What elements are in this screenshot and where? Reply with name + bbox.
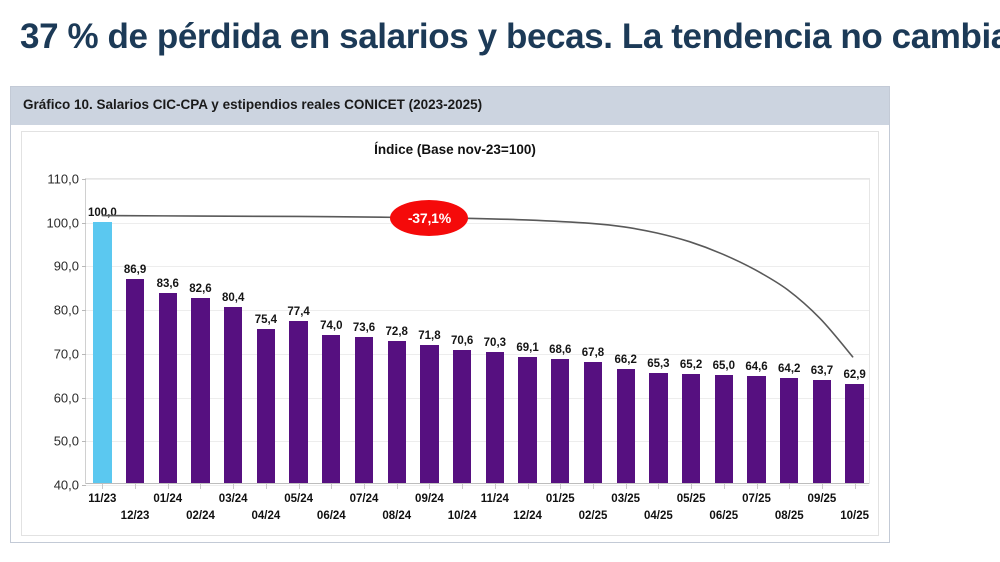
- chart-panel: Gráfico 10. Salarios CIC-CPA y estipendi…: [10, 86, 890, 543]
- plot-wrapper: 110,0100,090,080,070,060,050,040,0 100,0…: [22, 172, 880, 532]
- x-axis-label: 10/25: [840, 510, 869, 522]
- x-axis-label: 07/25: [742, 493, 771, 505]
- bar-value-label: 82,6: [189, 283, 211, 295]
- x-axis-tick-mark: [429, 484, 430, 489]
- bar-column[interactable]: 83,6: [159, 179, 177, 484]
- x-axis-label: 05/24: [284, 493, 313, 505]
- bar[interactable]: [289, 321, 307, 484]
- x-axis-tick-mark: [233, 484, 234, 489]
- bar-value-label: 72,8: [386, 326, 408, 338]
- y-axis-tick-label: 90,0: [54, 259, 79, 274]
- chart-panel-header: Gráfico 10. Salarios CIC-CPA y estipendi…: [11, 87, 889, 125]
- x-axis-tick-mark: [593, 484, 594, 489]
- plot-area: 110,0100,090,080,070,060,050,040,0 100,0…: [85, 178, 870, 484]
- bar-value-label: 70,6: [451, 335, 473, 347]
- x-axis-label: 03/24: [219, 493, 248, 505]
- bar[interactable]: [813, 380, 831, 484]
- bar[interactable]: [551, 359, 569, 484]
- x-axis-tick-mark: [757, 484, 758, 489]
- x-axis-label: 11/24: [481, 493, 509, 505]
- bar-value-label: 66,2: [614, 354, 636, 366]
- bar-column[interactable]: 63,7: [813, 179, 831, 484]
- callout-label: -37,1%: [408, 210, 451, 226]
- x-axis-label: 02/24: [186, 510, 215, 522]
- bar-value-label: 83,6: [157, 278, 179, 290]
- gridline: [86, 485, 869, 486]
- y-axis-tick-mark: [82, 223, 86, 224]
- bar[interactable]: [355, 337, 373, 484]
- bar[interactable]: [780, 378, 798, 484]
- x-axis-label: 06/25: [709, 510, 738, 522]
- bar-value-label: 64,6: [745, 361, 767, 373]
- x-axis-tick-mark: [168, 484, 169, 489]
- bar[interactable]: [747, 376, 765, 484]
- bar-column[interactable]: 73,6: [355, 179, 373, 484]
- y-axis-tick-label: 110,0: [47, 172, 79, 187]
- bar-column[interactable]: 82,6: [191, 179, 209, 484]
- x-axis-label: 10/24: [448, 510, 477, 522]
- bar-column[interactable]: 68,6: [551, 179, 569, 484]
- bar[interactable]: [518, 357, 536, 484]
- bar-column[interactable]: 86,9: [126, 179, 144, 484]
- x-axis-tick-mark: [200, 484, 201, 489]
- bar[interactable]: [649, 373, 667, 484]
- x-axis-label: 07/24: [350, 493, 379, 505]
- bar-column[interactable]: 75,4: [257, 179, 275, 484]
- bar-column[interactable]: 74,0: [322, 179, 340, 484]
- chart-subtitle: Índice (Base nov-23=100): [22, 142, 878, 157]
- x-axis-label: 09/24: [415, 493, 444, 505]
- x-axis-tick-mark: [560, 484, 561, 489]
- y-axis-tick-mark: [82, 179, 86, 180]
- y-axis-tick-label: 50,0: [54, 434, 79, 449]
- x-axis-baseline: [86, 483, 869, 484]
- bar-value-label: 62,9: [843, 369, 865, 381]
- bar-value-label: 77,4: [287, 306, 309, 318]
- bar-column[interactable]: 65,0: [715, 179, 733, 484]
- y-axis-tick-label: 70,0: [54, 346, 79, 361]
- bar[interactable]: [486, 352, 504, 484]
- y-axis-tick-mark: [82, 441, 86, 442]
- bar-value-label: 63,7: [811, 365, 833, 377]
- bar-column[interactable]: 77,4: [289, 179, 307, 484]
- x-axis-label: 09/25: [808, 493, 837, 505]
- bar-column[interactable]: 67,8: [584, 179, 602, 484]
- y-axis-tick-mark: [82, 354, 86, 355]
- x-axis-tick-mark: [789, 484, 790, 489]
- bar-column[interactable]: 65,3: [649, 179, 667, 484]
- chart-panel-body: Índice (Base nov-23=100) 110,0100,090,08…: [21, 131, 879, 536]
- bar[interactable]: [93, 222, 111, 484]
- x-axis-label: 04/25: [644, 510, 673, 522]
- bar-value-label: 73,6: [353, 322, 375, 334]
- bar-value-label: 65,3: [647, 358, 669, 370]
- bar-value-label: 71,8: [418, 330, 440, 342]
- trendline-path: [102, 216, 852, 357]
- bar-column[interactable]: 64,6: [747, 179, 765, 484]
- x-axis-label: 06/24: [317, 510, 346, 522]
- x-axis-label: 01/25: [546, 493, 575, 505]
- y-axis-tick-mark: [82, 485, 86, 486]
- bar[interactable]: [126, 279, 144, 484]
- bar-column[interactable]: 100,0: [93, 179, 111, 484]
- x-axis-label: 08/25: [775, 510, 804, 522]
- x-axis-label: 12/23: [121, 510, 150, 522]
- y-axis-tick-label: 80,0: [54, 303, 79, 318]
- bar-column[interactable]: 65,2: [682, 179, 700, 484]
- bar-column[interactable]: 70,3: [486, 179, 504, 484]
- bar-value-label: 86,9: [124, 264, 146, 276]
- x-axis-tick-mark: [299, 484, 300, 489]
- y-axis-tick-mark: [82, 310, 86, 311]
- bar-column[interactable]: 80,4: [224, 179, 242, 484]
- bar[interactable]: [257, 329, 275, 484]
- bar[interactable]: [388, 341, 406, 484]
- bar[interactable]: [584, 362, 602, 484]
- y-axis-tick-mark: [82, 398, 86, 399]
- x-axis-tick-mark: [102, 484, 103, 489]
- y-axis-tick-mark: [82, 266, 86, 267]
- x-axis-label: 02/25: [579, 510, 608, 522]
- bar[interactable]: [453, 350, 471, 484]
- page-headline: 37 % de pérdida en salarios y becas. La …: [20, 8, 995, 66]
- bar[interactable]: [617, 369, 635, 484]
- x-axis-tick-mark: [691, 484, 692, 489]
- x-axis-tick-mark: [364, 484, 365, 489]
- y-axis-tick-label: 40,0: [54, 478, 79, 493]
- x-axis-tick-mark: [397, 484, 398, 489]
- x-axis-tick-mark: [266, 484, 267, 489]
- x-axis-tick-mark: [724, 484, 725, 489]
- bar[interactable]: [682, 374, 700, 484]
- bar[interactable]: [322, 335, 340, 484]
- bar-value-label: 74,0: [320, 320, 342, 332]
- bar-value-label: 75,4: [255, 314, 277, 326]
- bar[interactable]: [845, 384, 863, 484]
- x-axis-label: 03/25: [611, 493, 640, 505]
- bar[interactable]: [420, 345, 438, 484]
- y-axis-tick-label: 100,0: [46, 215, 79, 230]
- x-axis-tick-mark: [528, 484, 529, 489]
- bar[interactable]: [224, 307, 242, 484]
- x-axis-tick-mark: [331, 484, 332, 489]
- x-axis-label: 08/24: [382, 510, 411, 522]
- bar-value-label: 69,1: [516, 342, 538, 354]
- bar-value-label: 80,4: [222, 292, 244, 304]
- x-axis-tick-mark: [658, 484, 659, 489]
- bar-value-label: 67,8: [582, 347, 604, 359]
- x-axis-tick-mark: [495, 484, 496, 489]
- x-axis-tick-mark: [855, 484, 856, 489]
- bar-value-label: 68,6: [549, 344, 571, 356]
- x-axis-label: 11/23: [88, 493, 116, 505]
- y-axis-tick-label: 60,0: [54, 390, 79, 405]
- x-axis-label: 12/24: [513, 510, 542, 522]
- bar-value-label: 100,0: [88, 207, 117, 219]
- bar-column[interactable]: 62,9: [845, 179, 863, 484]
- bar-value-label: 70,3: [484, 337, 506, 349]
- bar-column[interactable]: 64,2: [780, 179, 798, 484]
- x-axis-tick-mark: [135, 484, 136, 489]
- chart-panel-title: Gráfico 10. Salarios CIC-CPA y estipendi…: [23, 97, 482, 112]
- callout-badge: -37,1%: [390, 200, 468, 236]
- bar-value-label: 64,2: [778, 363, 800, 375]
- bar[interactable]: [191, 298, 209, 484]
- bar-value-label: 65,2: [680, 359, 702, 371]
- x-axis-tick-mark: [626, 484, 627, 489]
- bar[interactable]: [715, 375, 733, 484]
- x-axis-tick-mark: [822, 484, 823, 489]
- x-axis-label: 01/24: [153, 493, 182, 505]
- x-axis-tick-mark: [462, 484, 463, 489]
- x-axis-label: 04/24: [252, 510, 281, 522]
- x-axis-label: 05/25: [677, 493, 706, 505]
- bar-column[interactable]: 66,2: [617, 179, 635, 484]
- bar-column[interactable]: 69,1: [518, 179, 536, 484]
- bar-value-label: 65,0: [713, 360, 735, 372]
- bar[interactable]: [159, 293, 177, 484]
